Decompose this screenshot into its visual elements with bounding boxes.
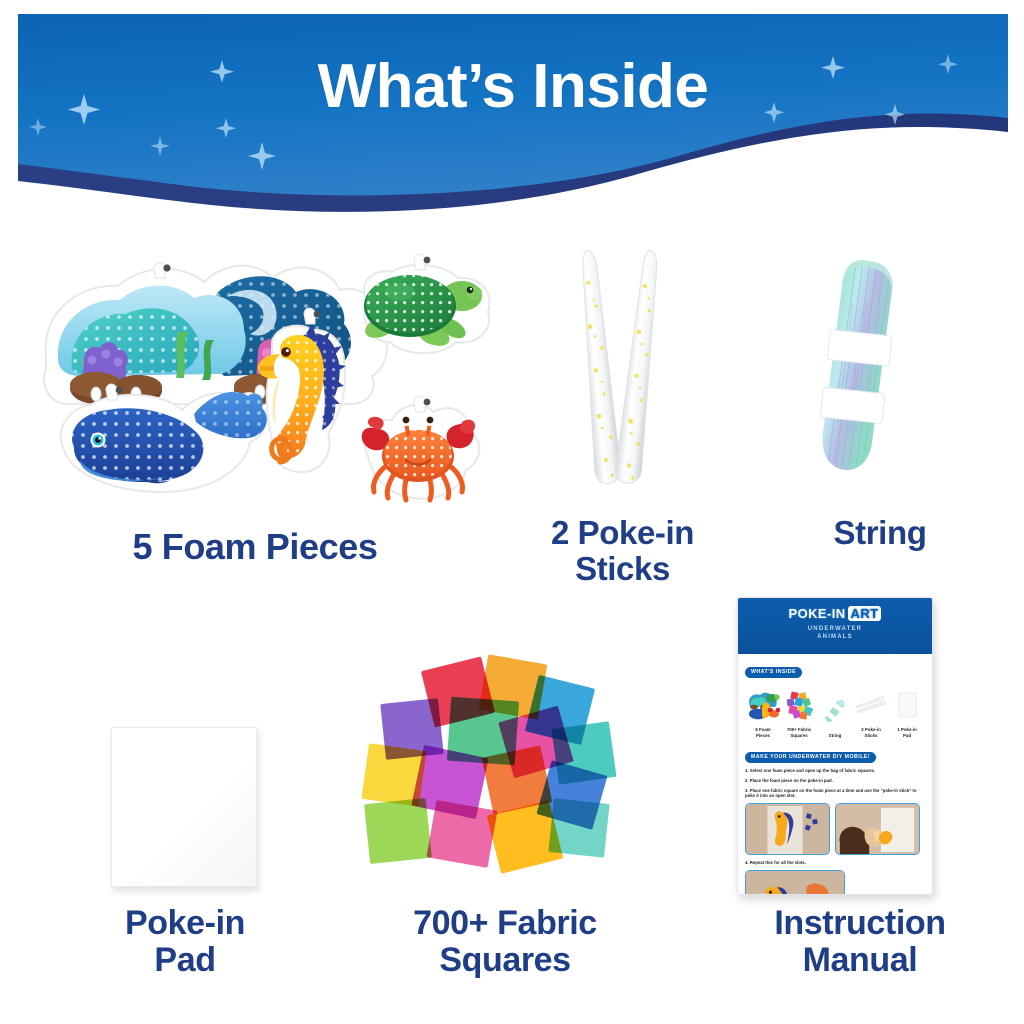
label-foam-pieces: 5 Foam Pieces [30, 528, 480, 567]
line1: 700+ Fabric [782, 727, 816, 733]
label-line-2: Manual [705, 942, 1015, 979]
foam-piece-crab [362, 396, 480, 500]
label-poke-in-sticks: 2 Poke-in Sticks [505, 515, 740, 586]
string-illustration [790, 245, 930, 495]
label-line-2: Sticks [505, 551, 740, 587]
instruction-manual-icon: POKE-INART UNDERWATER ANIMALS WHAT'S INS… [737, 597, 933, 895]
manual-step-4: 4. Repeat this for all the slots. [745, 860, 925, 866]
poke-in-pad-icon [111, 727, 257, 887]
fabric-square [364, 798, 432, 864]
label-line-2: Squares [340, 942, 670, 979]
foam-piece-turtle [361, 254, 489, 353]
manual-step-2: 2. Place the foam piece on the poke-in p… [745, 778, 925, 784]
manual-photo-3 [745, 870, 845, 895]
fabric-square [548, 798, 609, 858]
manual-subtitle: UNDERWATER ANIMALS [738, 625, 932, 641]
fabric-square [426, 800, 497, 868]
manual-item-fabric: 700+ Fabric Squares [782, 685, 816, 738]
stick-left [576, 249, 622, 484]
manual-item-string: String [818, 691, 852, 739]
manual-steps-section: MAKE YOUR UNDERWATER DIY MOBILE! 1. Sele… [745, 745, 925, 799]
instruction-manual-illustration: POKE-INART UNDERWATER ANIMALS WHAT'S INS… [737, 597, 933, 895]
label-line-1: Instruction [705, 905, 1015, 942]
manual-logo: POKE-INART [789, 606, 882, 621]
manual-item-fabric-label: 700+ Fabric Squares [782, 727, 816, 738]
manual-item-foam-label: 5 Foam Pieces [746, 727, 780, 738]
manual-poke-in-pad-icon [890, 685, 924, 725]
manual-header: POKE-INART UNDERWATER ANIMALS [738, 598, 932, 654]
stick-right [614, 249, 664, 484]
manual-item-pad-label: 1 Poke-in Pad [890, 727, 924, 738]
label-line-1: 2 Poke-in [505, 515, 740, 551]
label-poke-in-pad: Poke-in Pad [60, 905, 310, 978]
manual-logo-pokein: POKE-IN [789, 606, 846, 621]
manual-foam-animals-icon [746, 685, 780, 725]
manual-subtitle-line-2: ANIMALS [738, 633, 932, 641]
manual-string-skein-icon [818, 691, 852, 731]
label-line-2: Pad [60, 942, 310, 979]
header-banner: What’s Inside [18, 14, 1008, 214]
manual-item-pad: 1 Poke-in Pad [890, 685, 924, 738]
poke-in-sticks-illustration [560, 240, 690, 508]
manual-whats-inside-badge: WHAT'S INSIDE [745, 667, 802, 678]
line2: Sticks [854, 733, 888, 739]
line2: Pieces [746, 733, 780, 739]
fabric-squares-illustration [355, 655, 645, 905]
label-line-1: 700+ Fabric [340, 905, 670, 942]
manual-fabric-squares-icon [782, 685, 816, 725]
manual-item-string-label: String [818, 733, 852, 739]
manual-photo-2 [835, 803, 920, 855]
poke-in-sticks-icon [560, 240, 690, 508]
page-title: What’s Inside [18, 56, 1008, 118]
manual-item-sticks-label: 2 Poke-in Sticks [854, 727, 888, 738]
manual-steps-badge: MAKE YOUR UNDERWATER DIY MOBILE! [745, 752, 876, 763]
manual-logo-art: ART [848, 606, 882, 621]
string-skein-icon [790, 245, 930, 495]
manual-item-sticks: 2 Poke-in Sticks [854, 685, 888, 738]
manual-photo-1 [745, 803, 830, 855]
manual-item-foam: 5 Foam Pieces [746, 685, 780, 738]
foam-pieces-illustration [28, 248, 498, 516]
label-string: String [760, 515, 1000, 551]
manual-subtitle-line-1: UNDERWATER [738, 625, 932, 633]
manual-poke-in-sticks-icon [854, 685, 888, 725]
manual-step-1: 1. Select one foam piece and open up the… [745, 768, 925, 774]
line2: Squares [782, 733, 816, 739]
label-line-1: Poke-in [60, 905, 310, 942]
line2: Pad [890, 733, 924, 739]
line1: String [818, 733, 852, 739]
poke-in-pad-illustration [105, 722, 265, 894]
manual-photo-row [745, 803, 925, 855]
manual-body: WHAT'S INSIDE [738, 654, 932, 895]
floss-bundle [809, 257, 907, 475]
label-instruction-manual: Instruction Manual [705, 905, 1015, 978]
label-fabric-squares: 700+ Fabric Squares [340, 905, 670, 978]
manual-inside-items: 5 Foam Pieces [745, 685, 925, 738]
foam-animals-icon [28, 248, 498, 516]
whats-inside-infographic: What’s Inside [0, 0, 1024, 1024]
manual-step-3: 3. Place one fabric square on the foam p… [745, 788, 925, 800]
